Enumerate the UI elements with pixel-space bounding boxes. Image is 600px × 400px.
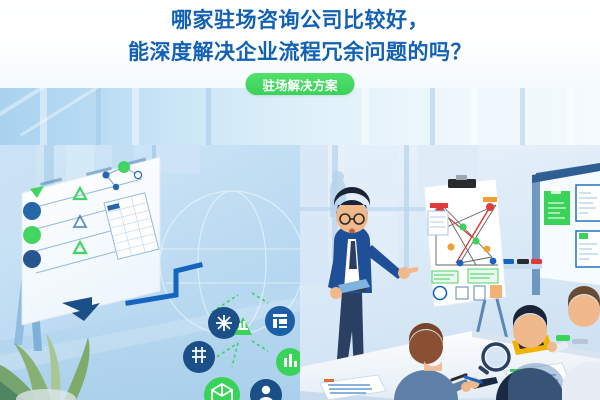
poster-root: 哪家驻场咨询公司比较好， 能深度解决企业流程冗余问题的吗？ 流程优化前后 流程梳… xyxy=(0,0,600,400)
window-stripe xyxy=(470,88,477,145)
illustration-area xyxy=(0,145,600,400)
window-stripe xyxy=(206,88,211,145)
window-stripe xyxy=(430,88,435,145)
consulting-meeting-scene xyxy=(300,145,600,400)
window-stripe xyxy=(566,88,573,145)
window-stripe xyxy=(520,88,525,145)
process-optimization-scene xyxy=(0,145,300,400)
page-title-line-1: 哪家驻场咨询公司比较好， xyxy=(0,10,600,31)
page-title-line-2: 能深度解决企业流程冗余问题的吗？ xyxy=(0,42,600,63)
window-stripe xyxy=(132,88,139,145)
window-stripe xyxy=(362,88,369,145)
nav-band xyxy=(0,88,600,145)
status-badge[interactable]: 驻场解决方案 xyxy=(245,73,354,95)
diagonal-accent xyxy=(0,88,119,121)
window-stripe xyxy=(96,88,101,145)
sticky-note xyxy=(556,335,570,341)
marker-pens xyxy=(502,259,542,264)
diagonal-accent xyxy=(20,88,140,137)
